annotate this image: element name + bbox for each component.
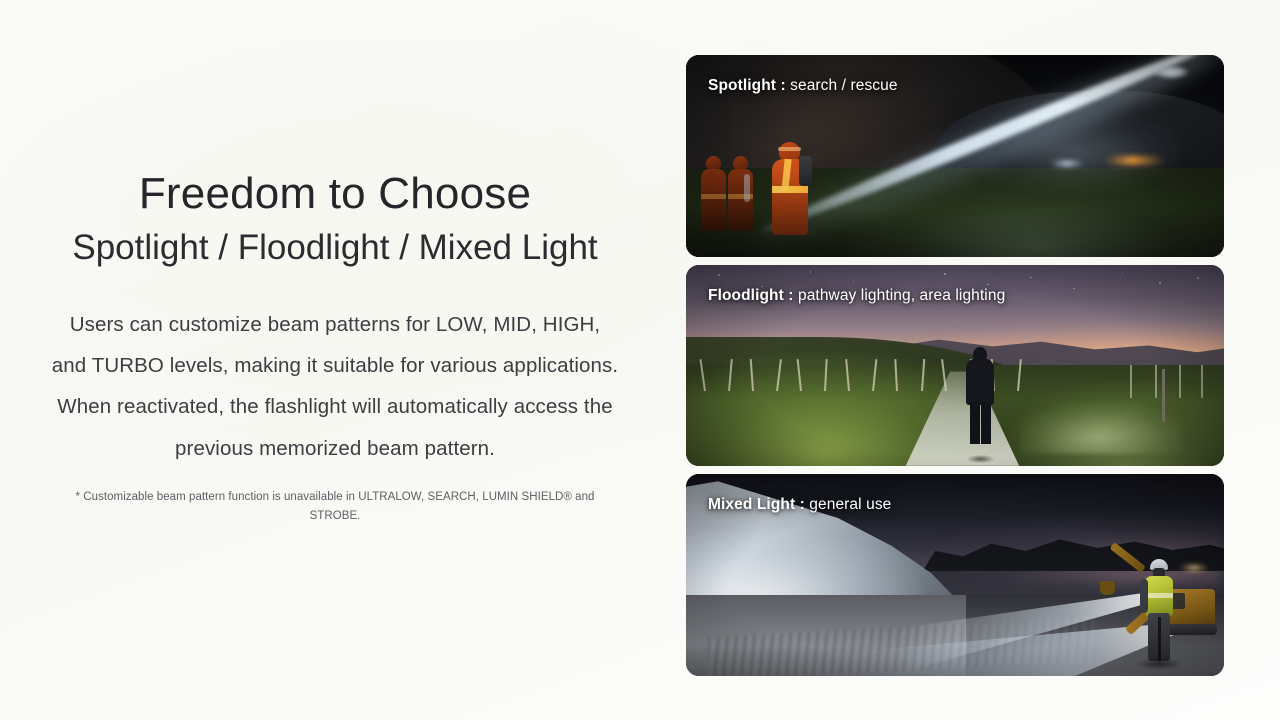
page-title: Freedom to Choose <box>50 168 620 220</box>
caption-detail: search / rescue <box>790 77 897 94</box>
caption-detail: pathway lighting, area lighting <box>798 287 1005 304</box>
footnote-text: * Customizable beam pattern function is … <box>50 488 620 525</box>
photo-caption-mixed-light: Mixed Light : general use <box>708 496 891 514</box>
caption-label: Mixed Light : <box>708 496 809 513</box>
caption-detail: general use <box>809 496 891 513</box>
caption-label: Spotlight : <box>708 77 790 94</box>
slide-root: Freedom to Choose Spotlight / Floodlight… <box>0 0 1280 720</box>
body-paragraph: Users can customize beam patterns for LO… <box>50 304 620 470</box>
photo-caption-spotlight: Spotlight : search / rescue <box>708 77 898 95</box>
photo-card-floodlight[interactable]: Floodlight : pathway lighting, area ligh… <box>686 265 1224 467</box>
text-block: Freedom to Choose Spotlight / Floodlight… <box>50 168 620 526</box>
page-subtitle: Spotlight / Floodlight / Mixed Light <box>50 226 620 270</box>
photo-card-mixed-light[interactable]: Mixed Light : general use <box>686 474 1224 676</box>
text-column: Freedom to Choose Spotlight / Floodlight… <box>0 0 664 720</box>
photo-caption-floodlight: Floodlight : pathway lighting, area ligh… <box>708 287 1005 305</box>
caption-label: Floodlight : <box>708 287 798 304</box>
photo-column: Spotlight : search / rescue <box>686 55 1224 676</box>
photo-card-spotlight[interactable]: Spotlight : search / rescue <box>686 55 1224 257</box>
